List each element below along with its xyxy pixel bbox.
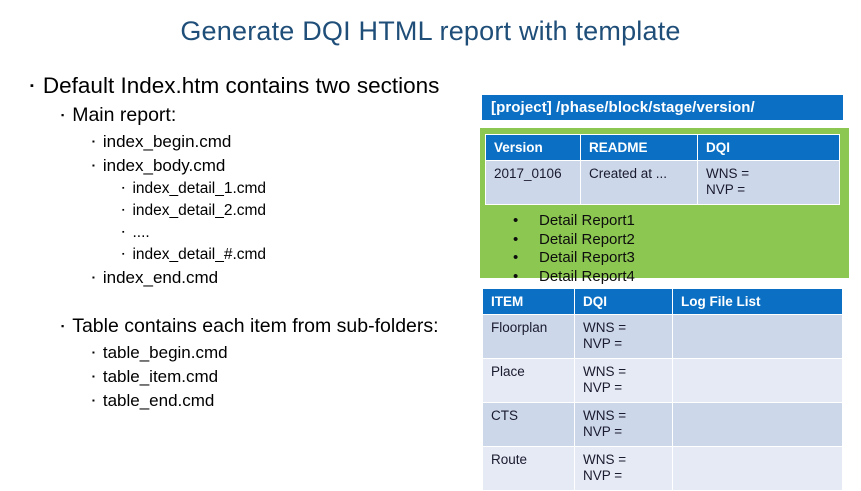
list-item: ▪ Default Index.htm contains two section…	[30, 72, 470, 99]
outline-list: ▪ Default Index.htm contains two section…	[30, 72, 470, 413]
main-report-panel: Version README DQI 2017_0106 Created at …	[480, 128, 849, 278]
list-item: ▪ table_item.cmd	[92, 365, 470, 388]
list-item-label: index_detail_#.cmd	[132, 244, 470, 265]
list-item-label: index_detail_1.cmd	[132, 178, 470, 199]
cell-item: Place	[483, 359, 575, 403]
detail-report-label: Detail Report2	[539, 231, 635, 248]
list-item-label: table_end.cmd	[103, 389, 470, 412]
square-bullet-icon: ▪	[92, 162, 95, 170]
detail-report-label: Detail Report1	[539, 212, 635, 229]
list-item: ▪ index_detail_2.cmd	[122, 200, 470, 221]
list-item-label: index_end.cmd	[103, 266, 470, 289]
list-item-label: table_begin.cmd	[103, 341, 470, 364]
list-item-label: index_body.cmd	[103, 154, 470, 177]
detail-report-list: • Detail Report1 • Detail Report2 • Deta…	[485, 212, 844, 286]
table-row: Place WNS = NVP =	[483, 359, 843, 403]
cell-dqi: WNS = NVP =	[575, 403, 673, 447]
table-row: 2017_0106 Created at ... WNS = NVP =	[486, 161, 840, 205]
column-header-dqi: DQI	[698, 135, 840, 161]
cell-dqi: WNS = NVP =	[575, 447, 673, 491]
dot-bullet-icon: •	[513, 249, 518, 268]
cell-item: Route	[483, 447, 575, 491]
cell-log-file-list	[673, 403, 843, 447]
square-bullet-icon: ▪	[92, 274, 95, 282]
list-item[interactable]: • Detail Report3	[513, 249, 844, 268]
list-item[interactable]: • Detail Report1	[513, 212, 844, 231]
list-item-label: index_detail_2.cmd	[132, 200, 470, 221]
square-bullet-icon: ▪	[92, 373, 95, 381]
dot-bullet-icon: •	[513, 212, 518, 231]
cell-dqi: WNS = NVP =	[575, 359, 673, 403]
list-item: ▪ ....	[122, 222, 470, 243]
square-bullet-icon: ▪	[92, 397, 95, 405]
list-item-label: index_begin.cmd	[103, 130, 470, 153]
column-header-readme: README	[581, 135, 698, 161]
cell-log-file-list	[673, 447, 843, 491]
cell-item: Floorplan	[483, 315, 575, 359]
list-item: ▪ table_begin.cmd	[92, 341, 470, 364]
page-title: Generate DQI HTML report with template	[0, 14, 861, 48]
list-item[interactable]: • Detail Report4	[513, 268, 844, 287]
table-header-row: ITEM DQI Log File List	[483, 289, 843, 315]
list-item: ▪ index_end.cmd	[92, 266, 470, 289]
square-bullet-icon: ▪	[92, 138, 95, 146]
table-row: Floorplan WNS = NVP =	[483, 315, 843, 359]
square-bullet-icon: ▪	[61, 111, 64, 120]
column-header-dqi: DQI	[575, 289, 673, 315]
list-item: ▪ index_body.cmd	[92, 154, 470, 177]
detail-report-label: Detail Report3	[539, 249, 635, 266]
project-path-bar: [project] /phase/block/stage/version/	[482, 95, 843, 120]
square-bullet-icon: ▪	[92, 349, 95, 357]
square-bullet-icon: ▪	[122, 229, 124, 236]
list-item: ▪ Main report:	[61, 103, 470, 128]
list-item: ▪ index_detail_1.cmd	[122, 178, 470, 199]
list-item-label: table_item.cmd	[103, 365, 470, 388]
table-row: CTS WNS = NVP =	[483, 403, 843, 447]
cell-log-file-list	[673, 315, 843, 359]
table-header-row: Version README DQI	[486, 135, 840, 161]
column-header-log-file-list: Log File List	[673, 289, 843, 315]
dot-bullet-icon: •	[513, 231, 518, 250]
cell-log-file-list	[673, 359, 843, 403]
column-header-item: ITEM	[483, 289, 575, 315]
cell-version: 2017_0106	[486, 161, 581, 205]
cell-dqi: WNS = NVP =	[575, 315, 673, 359]
cell-dqi: WNS = NVP =	[698, 161, 840, 205]
list-item-label: ....	[132, 222, 470, 243]
list-item: ▪ index_begin.cmd	[92, 130, 470, 153]
square-bullet-icon: ▪	[122, 207, 124, 214]
list-item-label: Main report:	[72, 103, 470, 128]
detail-report-label: Detail Report4	[539, 268, 635, 285]
list-item: ▪ index_detail_#.cmd	[122, 244, 470, 265]
list-item: ▪ Table contains each item from sub-fold…	[61, 314, 470, 339]
square-bullet-icon: ▪	[122, 251, 124, 258]
list-item-label: Table contains each item from sub-folder…	[72, 314, 470, 339]
table-row: Route WNS = NVP =	[483, 447, 843, 491]
version-table: Version README DQI 2017_0106 Created at …	[485, 134, 840, 205]
dot-bullet-icon: •	[513, 268, 518, 287]
square-bullet-icon: ▪	[61, 322, 64, 331]
item-table: ITEM DQI Log File List Floorplan WNS = N…	[482, 288, 843, 491]
square-bullet-icon: ▪	[122, 185, 124, 192]
outline-section-spacer	[30, 290, 470, 314]
cell-item: CTS	[483, 403, 575, 447]
list-item[interactable]: • Detail Report2	[513, 231, 844, 250]
cell-readme: Created at ...	[581, 161, 698, 205]
square-bullet-icon: ▪	[30, 81, 34, 92]
list-item: ▪ table_end.cmd	[92, 389, 470, 412]
list-item-label: Default Index.htm contains two sections	[43, 72, 470, 99]
column-header-version: Version	[486, 135, 581, 161]
